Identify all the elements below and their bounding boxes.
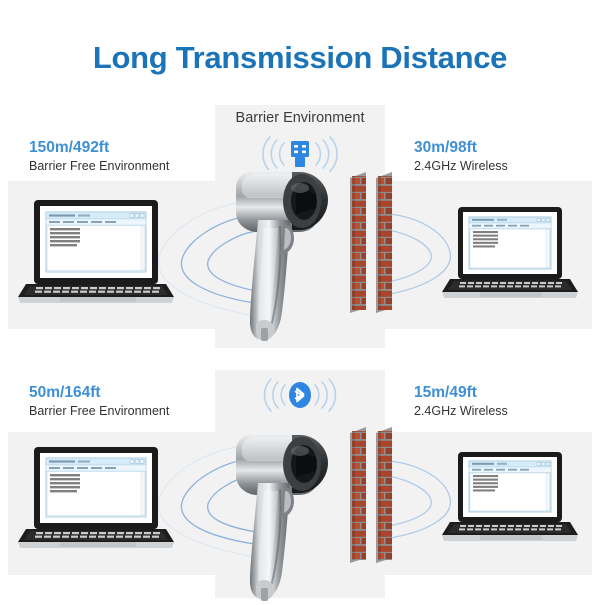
bluetooth-icon (289, 382, 311, 408)
environment-bottom-right: 2.4GHz Wireless (414, 404, 508, 420)
distance-bottom-right: 15m/49ft (414, 384, 508, 402)
laptop-top-right (440, 205, 580, 303)
label-top-left: 150m/492ft Barrier Free Environment (29, 139, 169, 174)
page-title: Long Transmission Distance (0, 40, 600, 76)
laptop-screen-window-bottom-right (469, 461, 551, 512)
environment-top-left: Barrier Free Environment (29, 159, 169, 175)
label-bottom-right: 15m/49ft 2.4GHz Wireless (414, 384, 508, 419)
laptop-screen-window-bottom-left (46, 458, 146, 517)
barcode-scanner-top (228, 162, 344, 347)
infographic-page: Long Transmission Distance Barrier Envir… (0, 0, 600, 600)
distance-top-left: 150m/492ft (29, 139, 169, 157)
laptop-screen-window-top-left (46, 212, 146, 272)
label-bottom-left: 50m/164ft Barrier Free Environment (29, 384, 169, 419)
environment-bottom-left: Barrier Free Environment (29, 404, 169, 420)
laptop-screen-window-top-right (469, 217, 551, 269)
bluetooth-icon-group (215, 375, 385, 417)
center-heading-top: Barrier Environment (215, 110, 385, 126)
laptop-bottom-left (18, 445, 178, 553)
brick-wall-top (348, 170, 396, 315)
laptop-top-left (18, 198, 178, 308)
barcode-scanner-bottom (228, 425, 344, 605)
brick-wall-bottom (348, 425, 396, 565)
laptop-bottom-right (440, 450, 580, 546)
label-top-right: 30m/98ft 2.4GHz Wireless (414, 139, 508, 174)
distance-top-right: 30m/98ft (414, 139, 508, 157)
environment-top-right: 2.4GHz Wireless (414, 159, 508, 175)
distance-bottom-left: 50m/164ft (29, 384, 169, 402)
